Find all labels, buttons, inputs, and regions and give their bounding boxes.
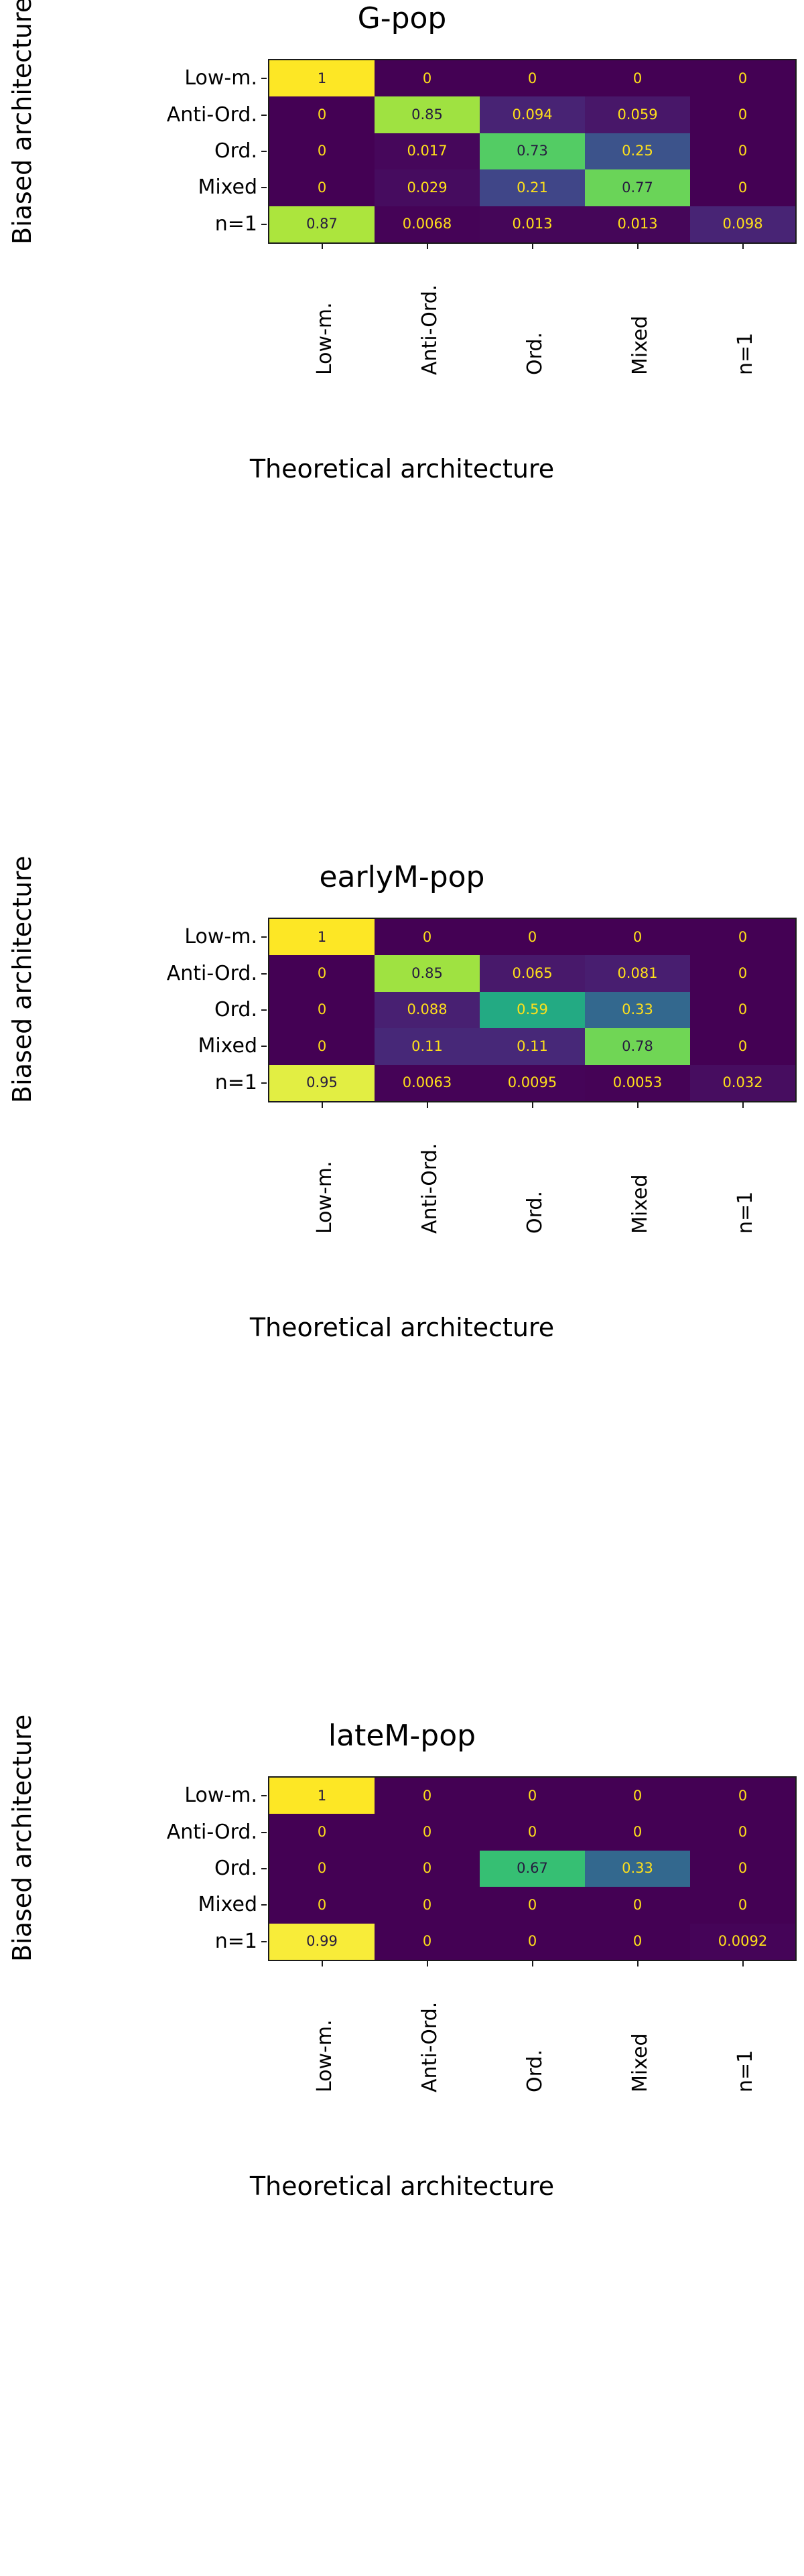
y-tick-mark-2 bbox=[261, 151, 267, 152]
heatmap-cell: 0 bbox=[269, 96, 375, 133]
y-tick-label-4: n=1 bbox=[56, 214, 257, 234]
y-tick-mark-3 bbox=[261, 187, 267, 188]
y-tick-label-1: Anti-Ord. bbox=[56, 1822, 257, 1843]
x-tick-label-1: Anti-Ord. bbox=[420, 2002, 440, 2092]
cell-value: 0 bbox=[423, 1789, 431, 1803]
x-tick-mark-4 bbox=[742, 1102, 744, 1108]
heatmap-cell: 0 bbox=[690, 1851, 795, 1887]
heatmap-cell: 0 bbox=[690, 955, 795, 991]
y-tick-mark-0 bbox=[261, 1795, 267, 1796]
heatmap-cell: 0.21 bbox=[480, 169, 585, 206]
cell-value: 0 bbox=[738, 1040, 747, 1054]
heatmap-cell: 1 bbox=[269, 919, 375, 955]
heatmap-cell: 0 bbox=[269, 955, 375, 991]
heatmap-cell: 0 bbox=[585, 919, 690, 955]
panel-g-pop: G-popBiased architecture1000000.850.0940… bbox=[0, 0, 804, 859]
cell-value: 0.013 bbox=[512, 217, 552, 231]
y-tick-mark-0 bbox=[261, 78, 267, 79]
heatmap-cell: 0 bbox=[585, 1924, 690, 1960]
y-tick-label-0: Low-m. bbox=[56, 927, 257, 947]
heatmap-cell: 0 bbox=[690, 992, 795, 1028]
cell-value: 0 bbox=[318, 1825, 326, 1839]
cell-value: 0 bbox=[423, 1934, 431, 1948]
cell-value: 0.78 bbox=[622, 1040, 653, 1054]
heatmap-cell: 0 bbox=[480, 1887, 585, 1923]
heatmap-cell: 0 bbox=[269, 992, 375, 1028]
cell-value: 0 bbox=[633, 1789, 642, 1803]
cell-value: 0 bbox=[423, 72, 431, 86]
cell-value: 0.33 bbox=[622, 1003, 653, 1017]
x-tick-label-0: Low-m. bbox=[315, 302, 335, 375]
cell-value: 0 bbox=[528, 72, 537, 86]
cell-value: 0.11 bbox=[411, 1040, 443, 1054]
cell-value: 0.0095 bbox=[508, 1076, 557, 1090]
cell-value: 0 bbox=[318, 1003, 326, 1017]
x-tick-label-1: Anti-Ord. bbox=[420, 285, 440, 375]
heatmap-cell: 0 bbox=[375, 1851, 480, 1887]
heatmap-cell: 0.77 bbox=[585, 169, 690, 206]
x-axis-label: Theoretical architecture bbox=[0, 2171, 804, 2201]
heatmap-cell: 0.098 bbox=[690, 206, 795, 242]
heatmap-cell: 0 bbox=[375, 919, 480, 955]
cell-value: 0.013 bbox=[617, 217, 657, 231]
x-tick-mark-0 bbox=[322, 244, 323, 249]
heatmap-cell: 0.87 bbox=[269, 206, 375, 242]
x-axis-label: Theoretical architecture bbox=[0, 1313, 804, 1342]
cell-value: 0.85 bbox=[411, 108, 443, 122]
heatmap-cell: 0 bbox=[480, 1924, 585, 1960]
panel-title: G-pop bbox=[0, 1, 804, 36]
x-tick-label-3: Mixed bbox=[630, 1174, 651, 1234]
cell-value: 1 bbox=[318, 930, 326, 944]
cell-value: 0.33 bbox=[622, 1861, 653, 1875]
cell-value: 1 bbox=[318, 72, 326, 86]
cell-value: 0.85 bbox=[411, 967, 443, 981]
y-tick-mark-1 bbox=[261, 115, 267, 116]
heatmap-cell: 0.25 bbox=[585, 133, 690, 169]
cell-value: 0 bbox=[633, 1825, 642, 1839]
cell-value: 0 bbox=[318, 1898, 326, 1912]
x-tick-label-4: n=1 bbox=[736, 2050, 756, 2092]
cell-value: 0.059 bbox=[617, 108, 657, 122]
heatmap-cell: 0 bbox=[690, 133, 795, 169]
x-tick-mark-0 bbox=[322, 1961, 323, 1966]
heatmap-cell: 0.95 bbox=[269, 1065, 375, 1101]
cell-value: 0.87 bbox=[306, 217, 338, 231]
heatmap-cell: 0 bbox=[690, 1778, 795, 1814]
y-tick-label-4: n=1 bbox=[56, 1932, 257, 1952]
y-tick-mark-1 bbox=[261, 973, 267, 975]
cell-value: 0.59 bbox=[517, 1003, 548, 1017]
heatmap-cell: 0 bbox=[375, 1778, 480, 1814]
heatmap-cell: 0.59 bbox=[480, 992, 585, 1028]
heatmap-cell: 0 bbox=[269, 1814, 375, 1850]
y-tick-mark-0 bbox=[261, 936, 267, 938]
cell-value: 0 bbox=[423, 1825, 431, 1839]
x-tick-mark-2 bbox=[532, 244, 533, 249]
cell-value: 0.081 bbox=[617, 967, 657, 981]
cell-value: 0.0063 bbox=[403, 1076, 452, 1090]
heatmap-cell: 0.0053 bbox=[585, 1065, 690, 1101]
heatmap-plot: 1000000000000.670.330000000.990000.0092 bbox=[268, 1776, 797, 1961]
x-tick-label-3: Mixed bbox=[630, 315, 651, 375]
heatmap-cell: 0 bbox=[269, 1028, 375, 1064]
x-tick-label-2: Ord. bbox=[525, 332, 545, 375]
x-tick-mark-3 bbox=[637, 244, 639, 249]
x-tick-mark-4 bbox=[742, 244, 744, 249]
cell-value: 0.0053 bbox=[613, 1076, 662, 1090]
y-axis-label: Biased architecture bbox=[9, 0, 35, 244]
heatmap-grid: 1000000000000.670.330000000.990000.0092 bbox=[269, 1778, 795, 1960]
x-tick-mark-2 bbox=[532, 1961, 533, 1966]
heatmap-cell: 0.059 bbox=[585, 96, 690, 133]
x-tick-label-4: n=1 bbox=[736, 1192, 756, 1234]
cell-value: 0.21 bbox=[517, 181, 548, 195]
cell-value: 0 bbox=[633, 930, 642, 944]
cell-value: 0 bbox=[423, 1861, 431, 1875]
heatmap-cell: 0.094 bbox=[480, 96, 585, 133]
y-tick-mark-1 bbox=[261, 1832, 267, 1833]
heatmap-cell: 0.081 bbox=[585, 955, 690, 991]
heatmap-cell: 0 bbox=[375, 1814, 480, 1850]
x-tick-mark-1 bbox=[427, 1961, 428, 1966]
y-tick-mark-2 bbox=[261, 1009, 267, 1011]
y-tick-label-4: n=1 bbox=[56, 1073, 257, 1093]
cell-value: 0 bbox=[528, 1789, 537, 1803]
cell-value: 0 bbox=[738, 1825, 747, 1839]
heatmap-cell: 0.065 bbox=[480, 955, 585, 991]
heatmap-grid: 1000000.850.0940.059000.0170.730.25000.0… bbox=[269, 60, 795, 242]
x-tick-mark-3 bbox=[637, 1102, 639, 1108]
cell-value: 0 bbox=[318, 967, 326, 981]
x-axis-label: Theoretical architecture bbox=[0, 454, 804, 484]
confusion-matrix-figure: G-popBiased architecture1000000.850.0940… bbox=[0, 0, 804, 2576]
cell-value: 0 bbox=[738, 1898, 747, 1912]
x-tick-label-4: n=1 bbox=[736, 333, 756, 375]
y-tick-label-3: Mixed bbox=[56, 1036, 257, 1056]
x-tick-mark-4 bbox=[742, 1961, 744, 1966]
panel-latem-pop: lateM-popBiased architecture100000000000… bbox=[0, 1717, 804, 2576]
heatmap-cell: 0 bbox=[585, 1778, 690, 1814]
heatmap-cell: 0 bbox=[480, 60, 585, 96]
cell-value: 0.25 bbox=[622, 144, 653, 158]
heatmap-cell: 0 bbox=[269, 1887, 375, 1923]
heatmap-cell: 0 bbox=[480, 1814, 585, 1850]
heatmap-cell: 0.0092 bbox=[690, 1924, 795, 1960]
x-tick-label-0: Low-m. bbox=[315, 2019, 335, 2092]
cell-value: 0.77 bbox=[622, 181, 653, 195]
cell-value: 0.032 bbox=[722, 1076, 762, 1090]
x-tick-label-3: Mixed bbox=[630, 2033, 651, 2092]
cell-value: 0 bbox=[738, 108, 747, 122]
heatmap-cell: 0 bbox=[269, 133, 375, 169]
heatmap-cell: 0.029 bbox=[375, 169, 480, 206]
cell-value: 1 bbox=[318, 1789, 326, 1803]
heatmap-cell: 0.0095 bbox=[480, 1065, 585, 1101]
heatmap-cell: 0 bbox=[690, 1887, 795, 1923]
heatmap-cell: 1 bbox=[269, 1778, 375, 1814]
y-tick-mark-2 bbox=[261, 1868, 267, 1869]
heatmap-grid: 1000000.850.0650.081000.0880.590.33000.1… bbox=[269, 919, 795, 1101]
y-tick-label-0: Low-m. bbox=[56, 1786, 257, 1806]
y-tick-mark-4 bbox=[261, 1941, 267, 1942]
cell-value: 0 bbox=[318, 181, 326, 195]
cell-value: 0 bbox=[423, 1898, 431, 1912]
x-tick-mark-1 bbox=[427, 244, 428, 249]
y-tick-label-2: Ord. bbox=[56, 1859, 257, 1879]
cell-value: 0 bbox=[738, 1789, 747, 1803]
y-tick-label-0: Low-m. bbox=[56, 68, 257, 88]
cell-value: 0.67 bbox=[517, 1861, 548, 1875]
heatmap-cell: 0.088 bbox=[375, 992, 480, 1028]
panel-title: lateM-pop bbox=[0, 1719, 804, 1754]
y-axis-label: Biased architecture bbox=[9, 1715, 35, 1962]
heatmap-cell: 0 bbox=[690, 60, 795, 96]
y-tick-mark-3 bbox=[261, 1046, 267, 1047]
heatmap-cell: 0.013 bbox=[585, 206, 690, 242]
cell-value: 0.088 bbox=[407, 1003, 447, 1017]
cell-value: 0.95 bbox=[306, 1076, 338, 1090]
cell-value: 0 bbox=[738, 144, 747, 158]
cell-value: 0.11 bbox=[517, 1040, 548, 1054]
panel-title: earlyM-pop bbox=[0, 860, 804, 895]
heatmap-cell: 0.11 bbox=[480, 1028, 585, 1064]
cell-value: 0 bbox=[738, 930, 747, 944]
heatmap-cell: 0.67 bbox=[480, 1851, 585, 1887]
y-tick-label-2: Ord. bbox=[56, 1000, 257, 1020]
heatmap-cell: 0.73 bbox=[480, 133, 585, 169]
heatmap-cell: 0.0068 bbox=[375, 206, 480, 242]
heatmap-cell: 0 bbox=[690, 919, 795, 955]
heatmap-cell: 0 bbox=[690, 96, 795, 133]
x-tick-mark-3 bbox=[637, 1961, 639, 1966]
heatmap-cell: 0.032 bbox=[690, 1065, 795, 1101]
cell-value: 0 bbox=[633, 72, 642, 86]
heatmap-plot: 1000000.850.0940.059000.0170.730.25000.0… bbox=[268, 59, 797, 244]
cell-value: 0.017 bbox=[407, 144, 447, 158]
cell-value: 0 bbox=[528, 1898, 537, 1912]
heatmap-cell: 0 bbox=[269, 169, 375, 206]
cell-value: 0 bbox=[528, 1934, 537, 1948]
x-tick-label-2: Ord. bbox=[525, 2050, 545, 2092]
y-tick-label-1: Anti-Ord. bbox=[56, 105, 257, 125]
y-tick-mark-3 bbox=[261, 1904, 267, 1906]
heatmap-cell: 0.11 bbox=[375, 1028, 480, 1064]
heatmap-cell: 0 bbox=[480, 919, 585, 955]
cell-value: 0 bbox=[738, 72, 747, 86]
heatmap-cell: 0 bbox=[375, 60, 480, 96]
x-tick-label-1: Anti-Ord. bbox=[420, 1143, 440, 1234]
cell-value: 0.0068 bbox=[403, 217, 452, 231]
cell-value: 0 bbox=[423, 930, 431, 944]
heatmap-cell: 0 bbox=[269, 1851, 375, 1887]
x-tick-mark-2 bbox=[532, 1102, 533, 1108]
cell-value: 0.029 bbox=[407, 181, 447, 195]
x-tick-mark-1 bbox=[427, 1102, 428, 1108]
heatmap-cell: 0.33 bbox=[585, 1851, 690, 1887]
cell-value: 0 bbox=[318, 1040, 326, 1054]
heatmap-cell: 0 bbox=[585, 60, 690, 96]
heatmap-cell: 0 bbox=[375, 1887, 480, 1923]
heatmap-cell: 0 bbox=[690, 1028, 795, 1064]
heatmap-cell: 0.013 bbox=[480, 206, 585, 242]
cell-value: 0 bbox=[738, 967, 747, 981]
cell-value: 0.0092 bbox=[718, 1934, 767, 1948]
heatmap-cell: 0.85 bbox=[375, 96, 480, 133]
heatmap-cell: 0 bbox=[375, 1924, 480, 1960]
cell-value: 0 bbox=[738, 1003, 747, 1017]
cell-value: 0 bbox=[318, 108, 326, 122]
x-tick-label-0: Low-m. bbox=[315, 1161, 335, 1234]
cell-value: 0 bbox=[633, 1934, 642, 1948]
cell-value: 0 bbox=[528, 930, 537, 944]
heatmap-cell: 0.33 bbox=[585, 992, 690, 1028]
cell-value: 0.73 bbox=[517, 144, 548, 158]
heatmap-cell: 0.85 bbox=[375, 955, 480, 991]
cell-value: 0.99 bbox=[306, 1934, 338, 1948]
heatmap-cell: 0.0063 bbox=[375, 1065, 480, 1101]
cell-value: 0.098 bbox=[722, 217, 762, 231]
heatmap-cell: 0.78 bbox=[585, 1028, 690, 1064]
y-tick-label-2: Ord. bbox=[56, 141, 257, 161]
cell-value: 0 bbox=[738, 181, 747, 195]
cell-value: 0 bbox=[318, 144, 326, 158]
x-tick-mark-0 bbox=[322, 1102, 323, 1108]
y-tick-label-1: Anti-Ord. bbox=[56, 964, 257, 984]
panel-earlym-pop: earlyM-popBiased architecture1000000.850… bbox=[0, 859, 804, 1717]
x-tick-label-2: Ord. bbox=[525, 1191, 545, 1234]
heatmap-cell: 1 bbox=[269, 60, 375, 96]
heatmap-plot: 1000000.850.0650.081000.0880.590.33000.1… bbox=[268, 918, 797, 1102]
y-tick-label-3: Mixed bbox=[56, 177, 257, 198]
heatmap-cell: 0 bbox=[690, 169, 795, 206]
y-tick-label-3: Mixed bbox=[56, 1895, 257, 1915]
heatmap-cell: 0 bbox=[585, 1887, 690, 1923]
cell-value: 0.065 bbox=[512, 967, 552, 981]
cell-value: 0 bbox=[528, 1825, 537, 1839]
heatmap-cell: 0 bbox=[690, 1814, 795, 1850]
cell-value: 0 bbox=[633, 1898, 642, 1912]
cell-value: 0 bbox=[318, 1861, 326, 1875]
heatmap-cell: 0 bbox=[480, 1778, 585, 1814]
cell-value: 0 bbox=[738, 1861, 747, 1875]
y-tick-mark-4 bbox=[261, 224, 267, 225]
y-tick-mark-4 bbox=[261, 1082, 267, 1084]
y-axis-label: Biased architecture bbox=[9, 856, 35, 1103]
heatmap-cell: 0.99 bbox=[269, 1924, 375, 1960]
heatmap-cell: 0.017 bbox=[375, 133, 480, 169]
heatmap-cell: 0 bbox=[585, 1814, 690, 1850]
cell-value: 0.094 bbox=[512, 108, 552, 122]
